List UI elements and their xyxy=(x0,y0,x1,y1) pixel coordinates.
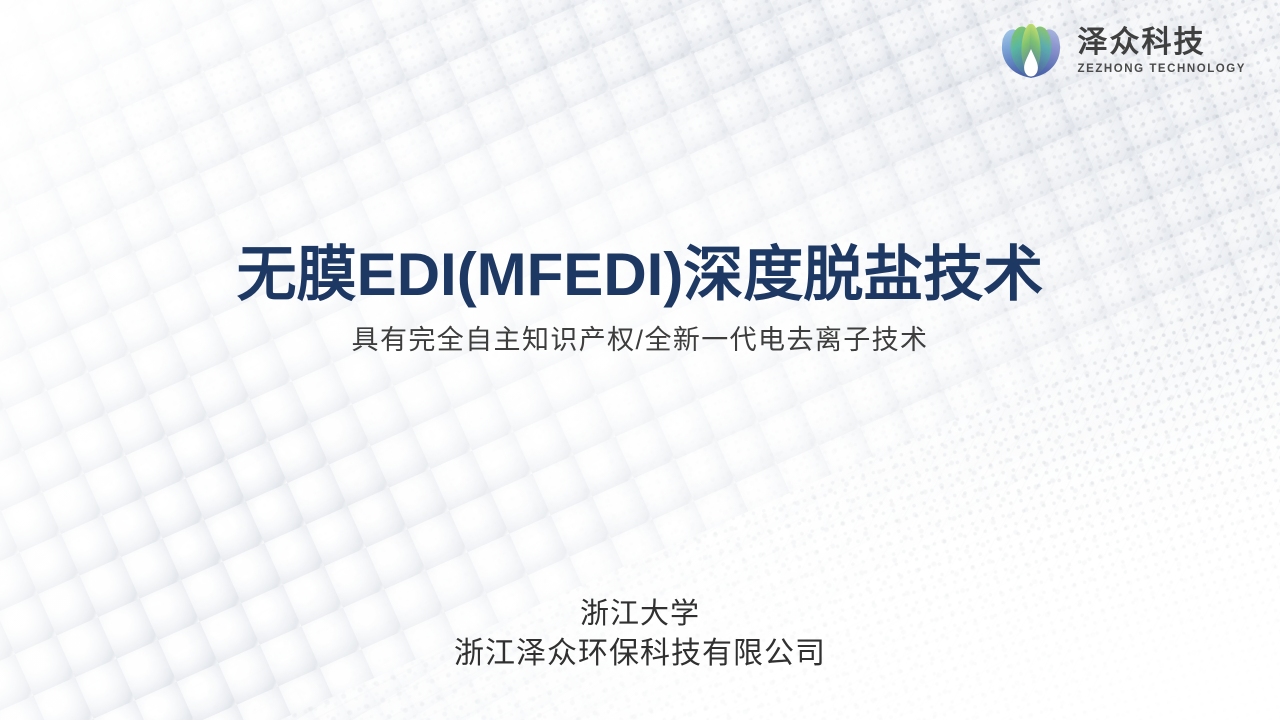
logo-wordmark: 泽众科技 ZEZHONG TECHNOLOGY xyxy=(1078,27,1246,75)
slide-subtitle: 具有完全自主知识产权/全新一代电去离子技术 xyxy=(0,324,1280,356)
organization-block: 浙江大学 浙江泽众环保科技有限公司 xyxy=(0,596,1280,674)
headline-block: 无膜EDI(MFEDI)深度脱盐技术 具有完全自主知识产权/全新一代电去离子技术 xyxy=(0,243,1280,356)
logo-company-name-en: ZEZHONG TECHNOLOGY xyxy=(1078,63,1246,75)
lotus-water-drop-icon xyxy=(996,20,1066,82)
company-logo: 泽众科技 ZEZHONG TECHNOLOGY xyxy=(996,20,1246,82)
slide-title: 无膜EDI(MFEDI)深度脱盐技术 xyxy=(0,243,1280,308)
organization-university: 浙江大学 xyxy=(0,596,1280,633)
organization-company: 浙江泽众环保科技有限公司 xyxy=(0,635,1280,673)
logo-company-name-cn: 泽众科技 xyxy=(1078,27,1206,59)
presentation-title-slide: 泽众科技 ZEZHONG TECHNOLOGY 无膜EDI(MFEDI)深度脱盐… xyxy=(0,0,1280,720)
